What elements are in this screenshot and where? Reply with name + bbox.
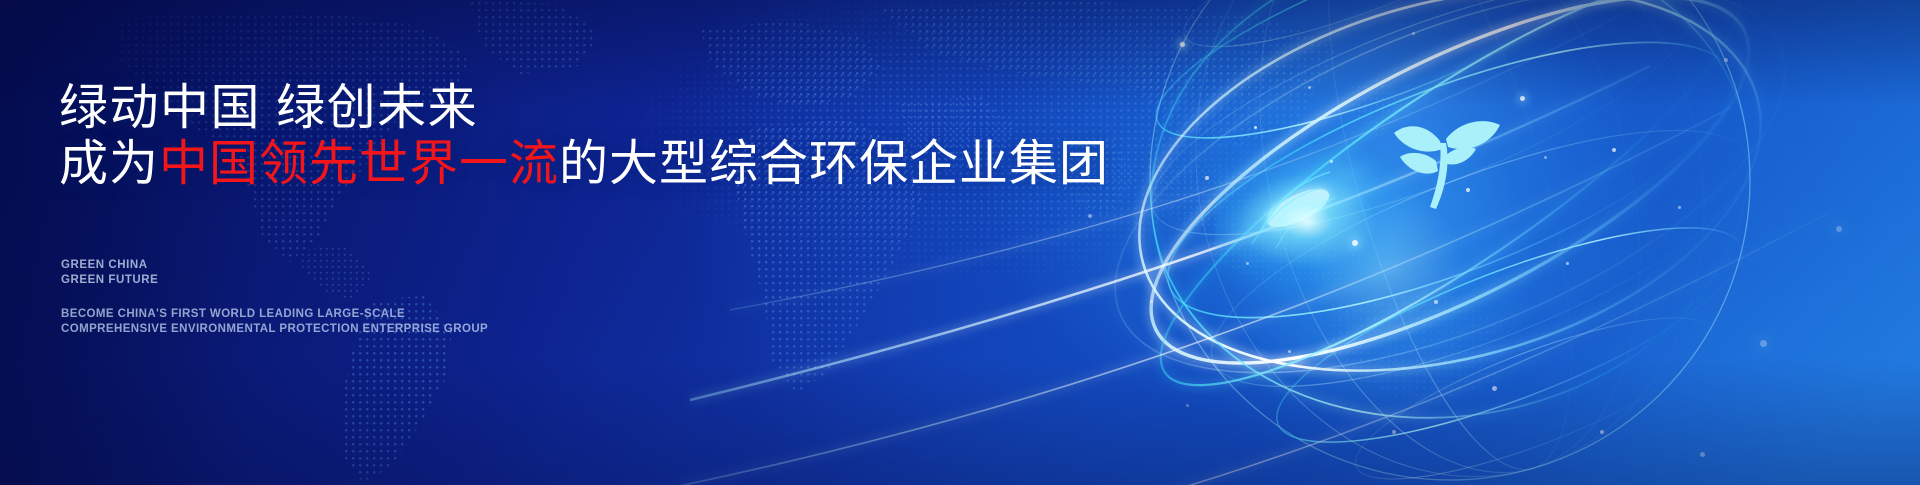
subtitle-english-line-2: GREEN FUTURE: [61, 273, 158, 288]
subtitle-english: GREEN CHINA GREEN FUTURE: [61, 258, 158, 287]
headline-line-2: 成为中国领先世界一流的大型综合环保企业集团: [59, 136, 1109, 192]
banner-content: 绿动中国 绿创未来 成为中国领先世界一流的大型综合环保企业集团 GREEN CH…: [59, 0, 1059, 485]
hero-banner: 绿动中国 绿创未来 成为中国领先世界一流的大型综合环保企业集团 GREEN CH…: [0, 0, 1920, 485]
headline-line-1: 绿动中国 绿创未来: [59, 80, 1109, 136]
green-sprout-icon: [1380, 95, 1510, 220]
description-english-line-2: COMPREHENSIVE ENVIRONMENTAL PROTECTION E…: [61, 322, 488, 337]
globe-core-glow: [1175, 55, 1595, 475]
headline-line-2-highlight: 中国领先世界一流: [159, 137, 559, 191]
wireframe-globe: [1030, 0, 1920, 485]
headline-line-2-prefix: 成为: [59, 137, 159, 191]
subtitle-english-line-1: GREEN CHINA: [61, 258, 158, 273]
globe-nexus-glow: [1215, 140, 1435, 310]
headline-line-2-suffix: 的大型综合环保企业集团: [559, 137, 1109, 191]
description-english-line-1: BECOME CHINA'S FIRST WORLD LEADING LARGE…: [61, 307, 488, 322]
headline-group: 绿动中国 绿创未来 成为中国领先世界一流的大型综合环保企业集团: [59, 80, 1109, 192]
description-english: BECOME CHINA'S FIRST WORLD LEADING LARGE…: [61, 307, 488, 336]
